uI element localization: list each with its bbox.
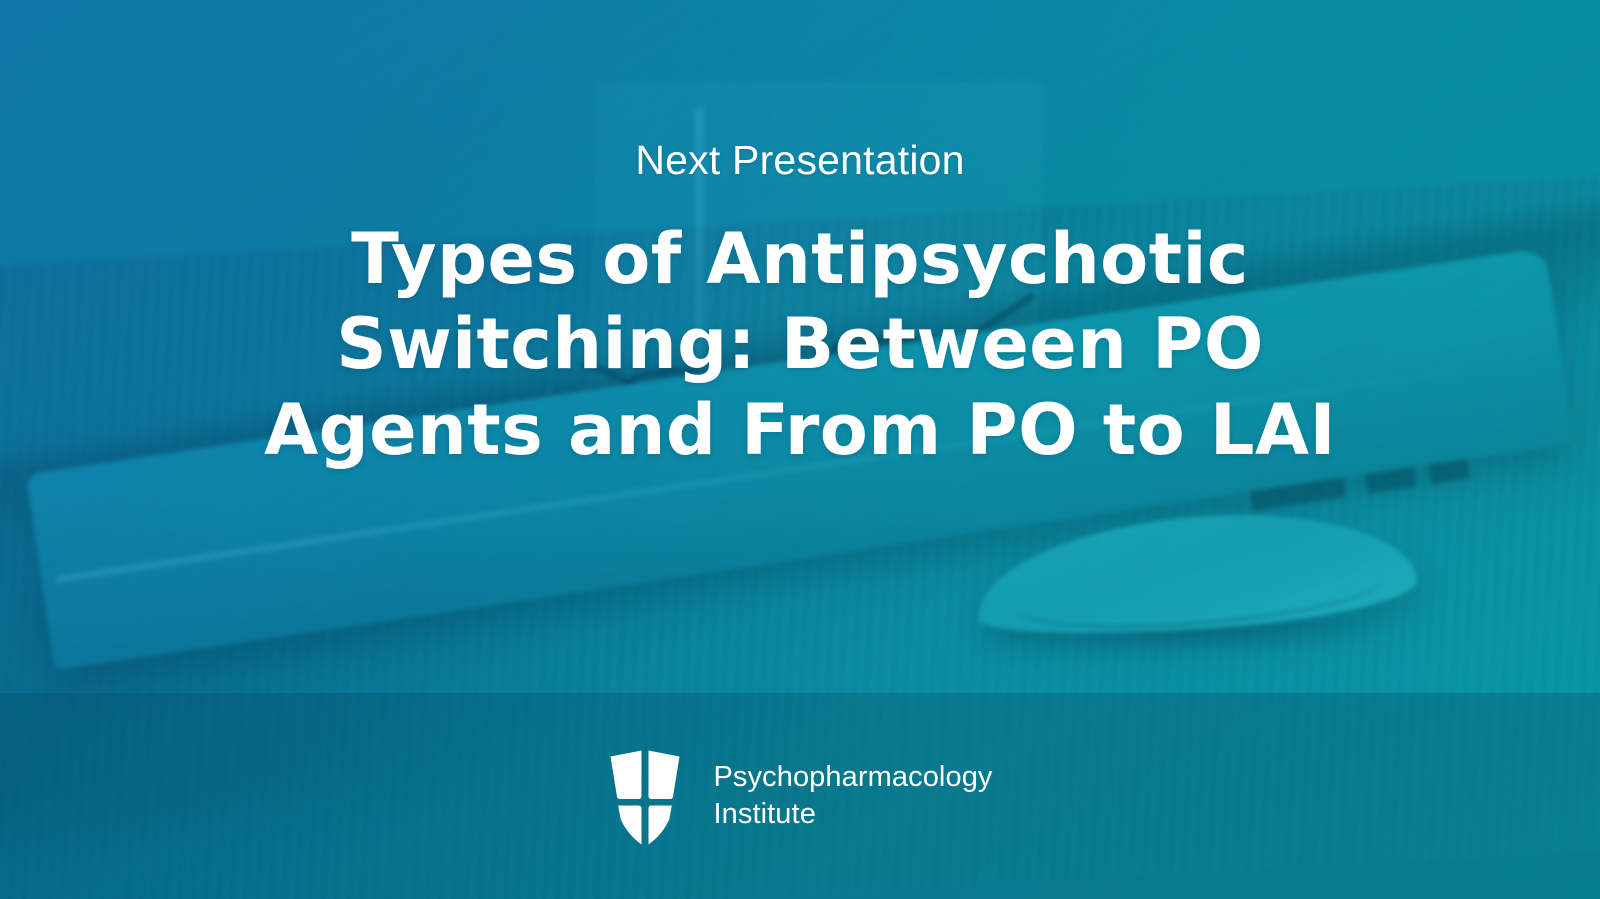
footer-bar: Psychopharmacology Institute xyxy=(0,693,1600,899)
slide-kicker: Next Presentation xyxy=(635,140,964,181)
presentation-slide: Next Presentation Types of Antipsychotic… xyxy=(0,0,1600,899)
slide-title: Types of Antipsychotic Switching: Betwee… xyxy=(230,217,1370,473)
slide-content: Next Presentation Types of Antipsychotic… xyxy=(0,0,1600,693)
brand-name: Psychopharmacology Institute xyxy=(713,759,992,832)
shield-quadrant-logo-icon xyxy=(607,740,683,852)
brand-logo: Psychopharmacology Institute xyxy=(607,740,992,852)
